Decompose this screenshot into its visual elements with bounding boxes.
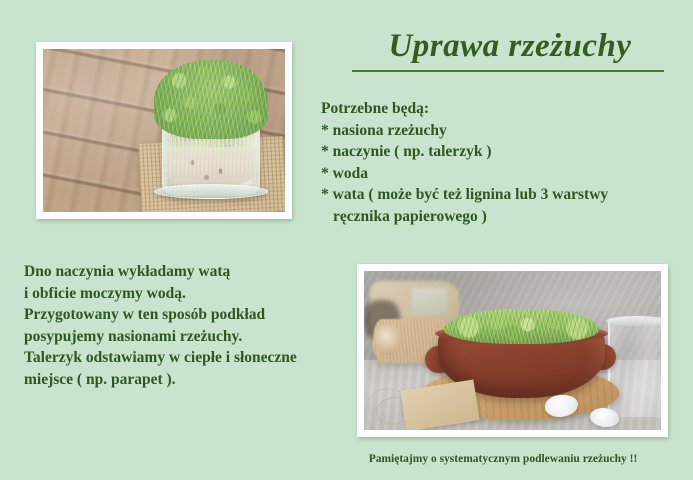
- instructions-paragraph: Dno naczynia wykładamy watą i obficie mo…: [24, 261, 344, 390]
- instruction-line-2: i obficie moczymy wodą.: [24, 283, 344, 305]
- needed-item-cotton-continued: ręcznika papierowego ): [321, 206, 686, 228]
- title-underline: [352, 70, 664, 72]
- photo-jar-image: [43, 49, 285, 212]
- poster-canvas: Uprawa rzeżuchy Potrzebne będą: * nasion…: [0, 0, 693, 480]
- page-title: Uprawa rzeżuchy: [350, 26, 670, 66]
- glass-container-rim: [606, 316, 661, 326]
- photo-bowl-image: [364, 271, 661, 430]
- cotton-ball-right: [590, 408, 620, 427]
- needed-items-heading: Potrzebne będą:: [321, 98, 686, 120]
- instruction-line-3: Przygotowany w ten sposób podkład: [24, 304, 344, 326]
- needed-item-water: * woda: [321, 163, 686, 185]
- needed-item-dish: * naczynie ( np. talerzyk ): [321, 141, 686, 163]
- glass-container: [608, 319, 661, 418]
- instruction-line-1: Dno naczynia wykładamy watą: [24, 261, 344, 283]
- instruction-line-6: miejsce ( np. parapet ).: [24, 369, 344, 391]
- photo-cress-in-glass-jar: [36, 42, 292, 219]
- needed-item-cotton: * wata ( może być też lignina lub 3 wars…: [321, 184, 686, 206]
- sack-label: [412, 288, 448, 313]
- cress-sprouts-texture: [154, 60, 268, 138]
- instruction-line-5: Talerzyk odstawiamy w ciepłe i słoneczne: [24, 347, 344, 369]
- instruction-line-4: posypujemy nasionami rzeżuchy.: [24, 326, 344, 348]
- reminder-caption: Pamiętajmy o systematycznym podlewaniu r…: [338, 452, 668, 467]
- photo-cress-in-ceramic-bowl: [357, 264, 668, 437]
- needed-item-seeds: * nasiona rzeżuchy: [321, 120, 686, 142]
- needed-items-list: Potrzebne będą: * nasiona rzeżuchy * nac…: [321, 98, 686, 227]
- cress-in-bowl-texture: [444, 309, 598, 344]
